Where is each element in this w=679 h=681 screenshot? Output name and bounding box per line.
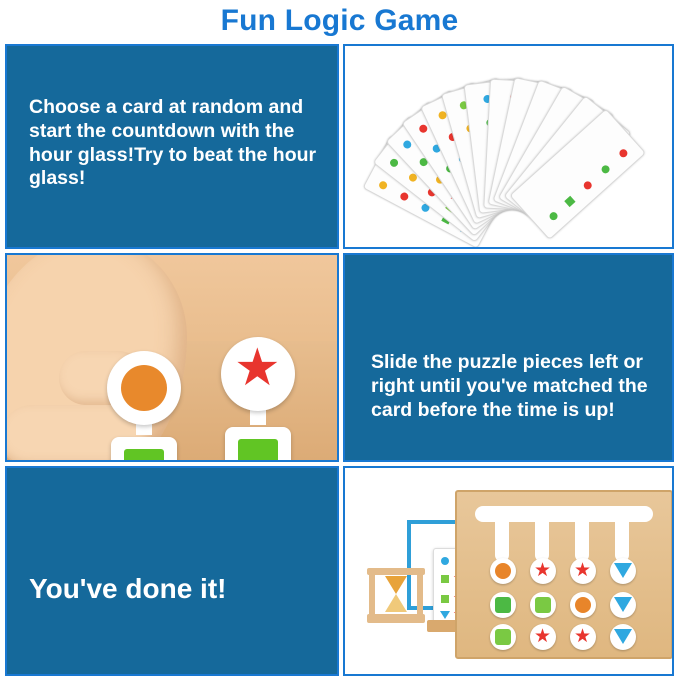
card-fan: ★ ★ ★	[345, 46, 674, 249]
board-piece[interactable]	[610, 624, 636, 650]
panel-instruction-3: You've done it!	[5, 466, 339, 676]
puzzle-piece-red-star[interactable]: ★	[221, 337, 295, 411]
logic-board: ★ ★ ★ ★	[455, 490, 673, 659]
puzzle-piece-green-square-right[interactable]	[225, 427, 291, 462]
puzzle-piece-green-square-left[interactable]	[111, 437, 177, 462]
panel-instruction-2: Slide the puzzle pieces left or right un…	[343, 253, 674, 462]
hourglass-post-left	[369, 572, 375, 616]
board-piece[interactable]: ★	[570, 558, 596, 584]
instruction-1-text: Choose a card at random and start the co…	[29, 96, 321, 191]
panel-hand-photo: ★	[5, 253, 339, 462]
panel-cards-photo: ★ ★ ★	[343, 44, 674, 249]
hourglass-sand-lower	[385, 594, 407, 612]
board-piece[interactable]	[610, 558, 636, 584]
board-piece[interactable]: ★	[570, 624, 596, 650]
panel-grid: Choose a card at random and start the co…	[5, 44, 674, 676]
board-piece[interactable]: ★	[530, 624, 556, 650]
board-piece[interactable]	[490, 624, 516, 650]
panel-board-photo: ★ ★ ★ ★ ★	[343, 466, 674, 676]
board-peg-1	[495, 514, 509, 562]
panel-instruction-1: Choose a card at random and start the co…	[5, 44, 339, 249]
instruction-2-text: Slide the puzzle pieces left or right un…	[371, 351, 661, 422]
hourglass-base	[367, 614, 425, 623]
hourglass-sand-upper	[385, 576, 407, 594]
board-piece[interactable]	[610, 592, 636, 618]
board-piece[interactable]	[530, 592, 556, 618]
board-peg-3	[575, 514, 589, 562]
board-piece[interactable]	[570, 592, 596, 618]
product-infographic: Fun Logic Game Choose a card at random a…	[0, 0, 679, 681]
hourglass-post-right	[417, 572, 423, 616]
arrow-left-icon	[407, 520, 411, 610]
instruction-3-text: You've done it!	[29, 572, 329, 606]
hourglass-top	[367, 568, 425, 575]
board-piece[interactable]	[490, 558, 516, 584]
page-title: Fun Logic Game	[0, 0, 679, 42]
puzzle-piece-orange-circle[interactable]	[107, 351, 181, 425]
board-piece[interactable]	[490, 592, 516, 618]
star-icon: ★	[234, 342, 281, 394]
board-peg-4	[615, 514, 629, 562]
board-peg-2	[535, 514, 549, 562]
board-piece[interactable]: ★	[530, 558, 556, 584]
